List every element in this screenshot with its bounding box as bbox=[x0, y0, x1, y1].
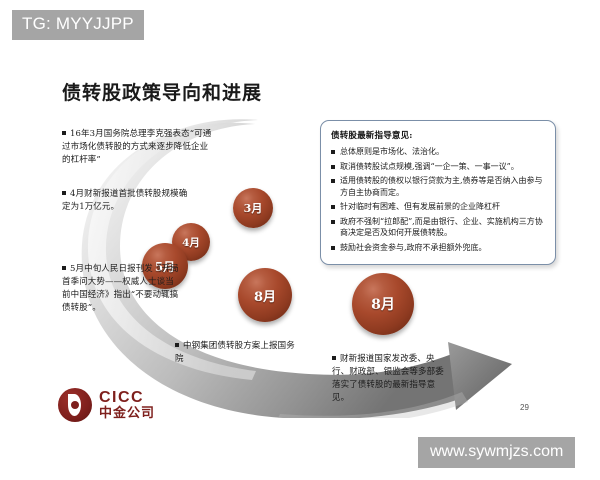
slide-canvas: 债转股政策导向和进展 bbox=[0, 48, 600, 433]
timeline-node-4[interactable]: 8月 bbox=[238, 268, 292, 322]
guidance-item-2: 取消债转股试点规模,强调“一企一策、一事一议”。 bbox=[331, 161, 546, 173]
cicc-logo-text-cn: 中金公司 bbox=[99, 406, 155, 421]
guidance-info-box-title: 债转股最新指导意见: bbox=[331, 129, 546, 141]
cicc-logo-mark-icon bbox=[58, 388, 92, 422]
event-item-1: 16年3月国务院总理李克强表态“可通过市场化债转股的方式来逐步降低企业的杠杆率” bbox=[62, 128, 212, 167]
guidance-item-1: 总体原则是市场化、法治化。 bbox=[331, 146, 546, 158]
bullet-square-icon bbox=[332, 356, 336, 360]
event-item-3: 5月中旬人民日报刊发《开局首季问大势——权威人士谈当前中国经济》指出“不要动辄搞… bbox=[62, 263, 180, 315]
event-item-4-text: 中钢集团债转股方案上报国务院 bbox=[175, 341, 295, 364]
cicc-logo: CICC 中金公司 bbox=[58, 388, 155, 422]
guidance-info-box: 债转股最新指导意见: 总体原则是市场化、法治化。 取消债转股试点规模,强调“一企… bbox=[320, 120, 556, 265]
event-item-2: 4月财新报道首批债转股规模确定为1万亿元。 bbox=[62, 188, 194, 214]
timeline-node-5-label: 8月 bbox=[371, 294, 395, 314]
cicc-logo-text-en: CICC bbox=[99, 390, 155, 406]
guidance-item-4: 针对临时有困难、但有发展前景的企业降杠杆 bbox=[331, 201, 546, 213]
event-item-1-text: 16年3月国务院总理李克强表态“可通过市场化债转股的方式来逐步降低企业的杠杆率” bbox=[62, 129, 211, 165]
event-item-4: 中钢集团债转股方案上报国务院 bbox=[175, 340, 295, 366]
guidance-item-6: 鼓励社会资金参与,政府不承担额外兜底。 bbox=[331, 242, 546, 254]
event-item-5: 财新报道国家发改委、央行、财政部、银监会等多部委落实了债转股的最新指导意见。 bbox=[332, 353, 444, 405]
bullet-square-icon bbox=[62, 266, 66, 270]
site-watermark: www.sywmjzs.com bbox=[418, 437, 575, 468]
event-item-2-text: 4月财新报道首批债转股规模确定为1万亿元。 bbox=[62, 189, 187, 212]
timeline-node-5[interactable]: 8月 bbox=[352, 273, 414, 335]
page-title: 债转股政策导向和进展 bbox=[62, 78, 262, 105]
bullet-square-icon bbox=[175, 343, 179, 347]
timeline-node-1-label: 3月 bbox=[244, 200, 263, 216]
timeline-node-4-label: 8月 bbox=[254, 286, 276, 305]
cicc-logo-text: CICC 中金公司 bbox=[99, 390, 155, 421]
timeline-node-1[interactable]: 3月 bbox=[233, 188, 273, 228]
timeline-node-2-label: 4月 bbox=[182, 235, 200, 250]
bullet-square-icon bbox=[62, 131, 66, 135]
event-item-3-text: 5月中旬人民日报刊发《开局首季问大势——权威人士谈当前中国经济》指出“不要动辄搞… bbox=[62, 264, 179, 313]
bullet-square-icon bbox=[62, 191, 66, 195]
event-item-5-text: 财新报道国家发改委、央行、财政部、银监会等多部委落实了债转股的最新指导意见。 bbox=[332, 354, 444, 403]
page-number: 29 bbox=[520, 403, 529, 412]
guidance-item-5: 政府不强制“拉郎配”,而是由银行、企业、实施机构三方协商决定是否及如何开展债转股… bbox=[331, 216, 546, 239]
top-watermark-tag: TG: MYYJJPP bbox=[12, 10, 144, 40]
guidance-item-3: 适用债转股的债权以银行贷款为主,债券等是否纳入由参与方自主协商而定。 bbox=[331, 175, 546, 198]
